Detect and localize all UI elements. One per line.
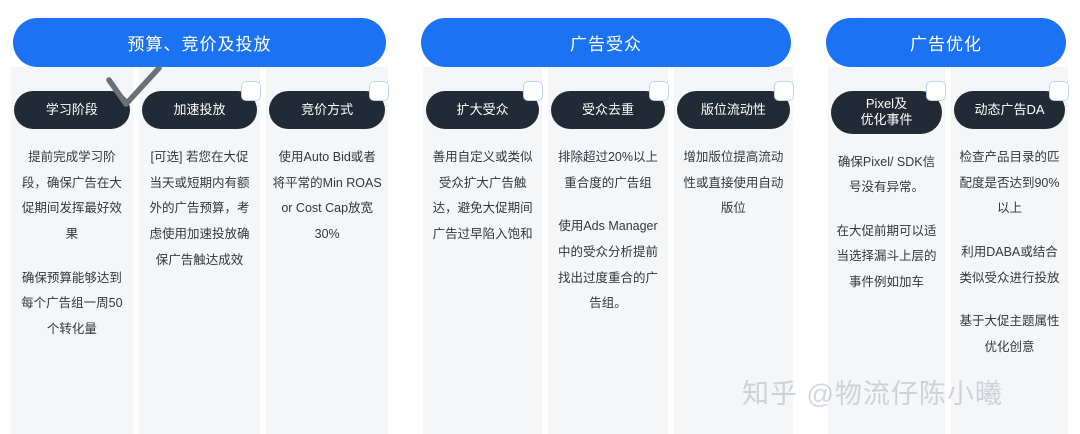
paragraph: [可选] 若您在大促当天或短期内有额外的广告预算，考虑使用加速投放确保广告触达成… xyxy=(145,145,255,273)
paragraph: 增加版位提高流动性或直接使用自动版位 xyxy=(680,145,787,222)
column-dynamic-ads-da[interactable]: 动态广告DA 检查产品目录的匹配度是否达到90%以上 利用DABA或结合类似受众… xyxy=(951,67,1068,434)
pill-wrap-pixel-events: Pixel及 优化事件 xyxy=(831,91,942,134)
paragraph: 检查产品目录的匹配度是否达到90%以上 xyxy=(957,145,1062,222)
body-audience-dedup: 排除超过20%以上重合度的广告组 使用Ads Manager中的受众分析提前找出… xyxy=(548,145,667,317)
checkbox-icon[interactable] xyxy=(1049,81,1069,101)
checkbox-icon[interactable] xyxy=(774,81,794,101)
checkbox-icon[interactable] xyxy=(369,81,389,101)
column-accelerated-delivery[interactable]: 加速投放 [可选] 若您在大促当天或短期内有额外的广告预算，考虑使用加速投放确保… xyxy=(139,67,261,434)
column-audience-dedup[interactable]: 受众去重 排除超过20%以上重合度的广告组 使用Ads Manager中的受众分… xyxy=(548,67,667,434)
paragraph: 确保Pixel/ SDK信号没有异常。 xyxy=(834,150,939,201)
roadmap-board: 预算、竞价及投放 学习阶段 提前完成学习阶段，确保广告在大促期间发挥最好效果 确… xyxy=(0,0,1080,434)
paragraph: 排除超过20%以上重合度的广告组 xyxy=(554,145,661,196)
column-bidding-method[interactable]: 竞价方式 使用Auto Bid或者将平常的Min ROAS or Cost Ca… xyxy=(266,67,388,434)
pill-wrap-bidding-method: 竞价方式 xyxy=(269,91,385,129)
group-ad-audience: 广告受众 扩大受众 善用自定义或类似受众扩大广告触达，避免大促期间广告过早陷入饱… xyxy=(412,0,800,434)
body-expand-audience: 善用自定义或类似受众扩大广告触达，避免大促期间广告过早陷入饱和 xyxy=(423,145,542,248)
body-dynamic-ads-da: 检查产品目录的匹配度是否达到90%以上 利用DABA或结合类似受众进行投放 基于… xyxy=(951,145,1068,360)
paragraph: 利用DABA或结合类似受众进行投放 xyxy=(957,240,1062,291)
pill-wrap-placement-liquidity: 版位流动性 xyxy=(677,91,790,129)
column-learning-phase[interactable]: 学习阶段 提前完成学习阶段，确保广告在大促期间发挥最好效果 确保预算能够达到每个… xyxy=(11,67,133,434)
paragraph: 确保预算能够达到每个广告组一周50个转化量 xyxy=(17,266,127,343)
pill-wrap-learning-phase: 学习阶段 xyxy=(14,91,130,129)
group-budget-bidding-delivery: 预算、竞价及投放 学习阶段 提前完成学习阶段，确保广告在大促期间发挥最好效果 确… xyxy=(0,0,395,434)
pill-label-learning-phase[interactable]: 学习阶段 xyxy=(14,91,130,129)
checkbox-icon[interactable] xyxy=(649,81,669,101)
column-pixel-events[interactable]: Pixel及 优化事件 确保Pixel/ SDK信号没有异常。 在大促前期可以适… xyxy=(828,67,945,434)
group-container: 预算、竞价及投放 学习阶段 提前完成学习阶段，确保广告在大促期间发挥最好效果 确… xyxy=(0,0,1080,434)
group-header-0[interactable]: 预算、竞价及投放 xyxy=(13,18,386,67)
body-bidding-method: 使用Auto Bid或者将平常的Min ROAS or Cost Cap放宽30… xyxy=(266,145,388,248)
group-separator xyxy=(395,0,412,434)
group-ad-optimization: 广告优化 Pixel及 优化事件 确保Pixel/ SDK信号没有异常。 在大促… xyxy=(817,0,1080,434)
pill-wrap-accelerated-delivery: 加速投放 xyxy=(142,91,258,129)
body-accelerated-delivery: [可选] 若您在大促当天或短期内有额外的广告预算，考虑使用加速投放确保广告触达成… xyxy=(139,145,261,273)
column-expand-audience[interactable]: 扩大受众 善用自定义或类似受众扩大广告触达，避免大促期间广告过早陷入饱和 xyxy=(423,67,542,434)
group-title-2: 广告优化 xyxy=(910,30,982,55)
pill-wrap-audience-dedup: 受众去重 xyxy=(551,91,664,129)
checkbox-icon[interactable] xyxy=(523,81,543,101)
column-placement-liquidity[interactable]: 版位流动性 增加版位提高流动性或直接使用自动版位 xyxy=(674,67,793,434)
paragraph: 提前完成学习阶段，确保广告在大促期间发挥最好效果 xyxy=(17,145,127,248)
pill-label-bidding-method[interactable]: 竞价方式 xyxy=(269,91,385,129)
pill-label-expand-audience[interactable]: 扩大受众 xyxy=(426,91,539,129)
columns-1: 扩大受众 善用自定义或类似受众扩大广告触达，避免大促期间广告过早陷入饱和 受众去… xyxy=(412,67,800,434)
body-placement-liquidity: 增加版位提高流动性或直接使用自动版位 xyxy=(674,145,793,222)
pill-wrap-expand-audience: 扩大受众 xyxy=(426,91,539,129)
body-learning-phase: 提前完成学习阶段，确保广告在大促期间发挥最好效果 确保预算能够达到每个广告组一周… xyxy=(11,145,133,342)
paragraph: 基于大促主题属性优化创意 xyxy=(957,309,1062,360)
paragraph: 使用Auto Bid或者将平常的Min ROAS or Cost Cap放宽30… xyxy=(272,145,382,248)
paragraph: 使用Ads Manager中的受众分析提前找出过度重合的广告组。 xyxy=(554,214,661,317)
paragraph: 在大促前期可以适当选择漏斗上层的事件例如加车 xyxy=(834,219,939,296)
pill-label-accelerated-delivery[interactable]: 加速投放 xyxy=(142,91,258,129)
group-header-2[interactable]: 广告优化 xyxy=(826,18,1066,67)
group-separator xyxy=(800,0,817,434)
columns-2: Pixel及 优化事件 确保Pixel/ SDK信号没有异常。 在大促前期可以适… xyxy=(817,67,1080,434)
pill-label-audience-dedup[interactable]: 受众去重 xyxy=(551,91,664,129)
group-title-0: 预算、竞价及投放 xyxy=(128,30,272,55)
checkbox-icon[interactable] xyxy=(926,81,946,101)
body-pixel-events: 确保Pixel/ SDK信号没有异常。 在大促前期可以适当选择漏斗上层的事件例如… xyxy=(828,150,945,296)
group-title-1: 广告受众 xyxy=(570,30,642,55)
columns-0: 学习阶段 提前完成学习阶段，确保广告在大促期间发挥最好效果 确保预算能够达到每个… xyxy=(0,67,395,434)
pill-label-placement-liquidity[interactable]: 版位流动性 xyxy=(677,91,790,129)
group-header-1[interactable]: 广告受众 xyxy=(421,18,791,67)
paragraph: 善用自定义或类似受众扩大广告触达，避免大促期间广告过早陷入饱和 xyxy=(429,145,536,248)
checkbox-icon[interactable] xyxy=(241,81,261,101)
pill-wrap-dynamic-ads-da: 动态广告DA xyxy=(954,91,1065,129)
